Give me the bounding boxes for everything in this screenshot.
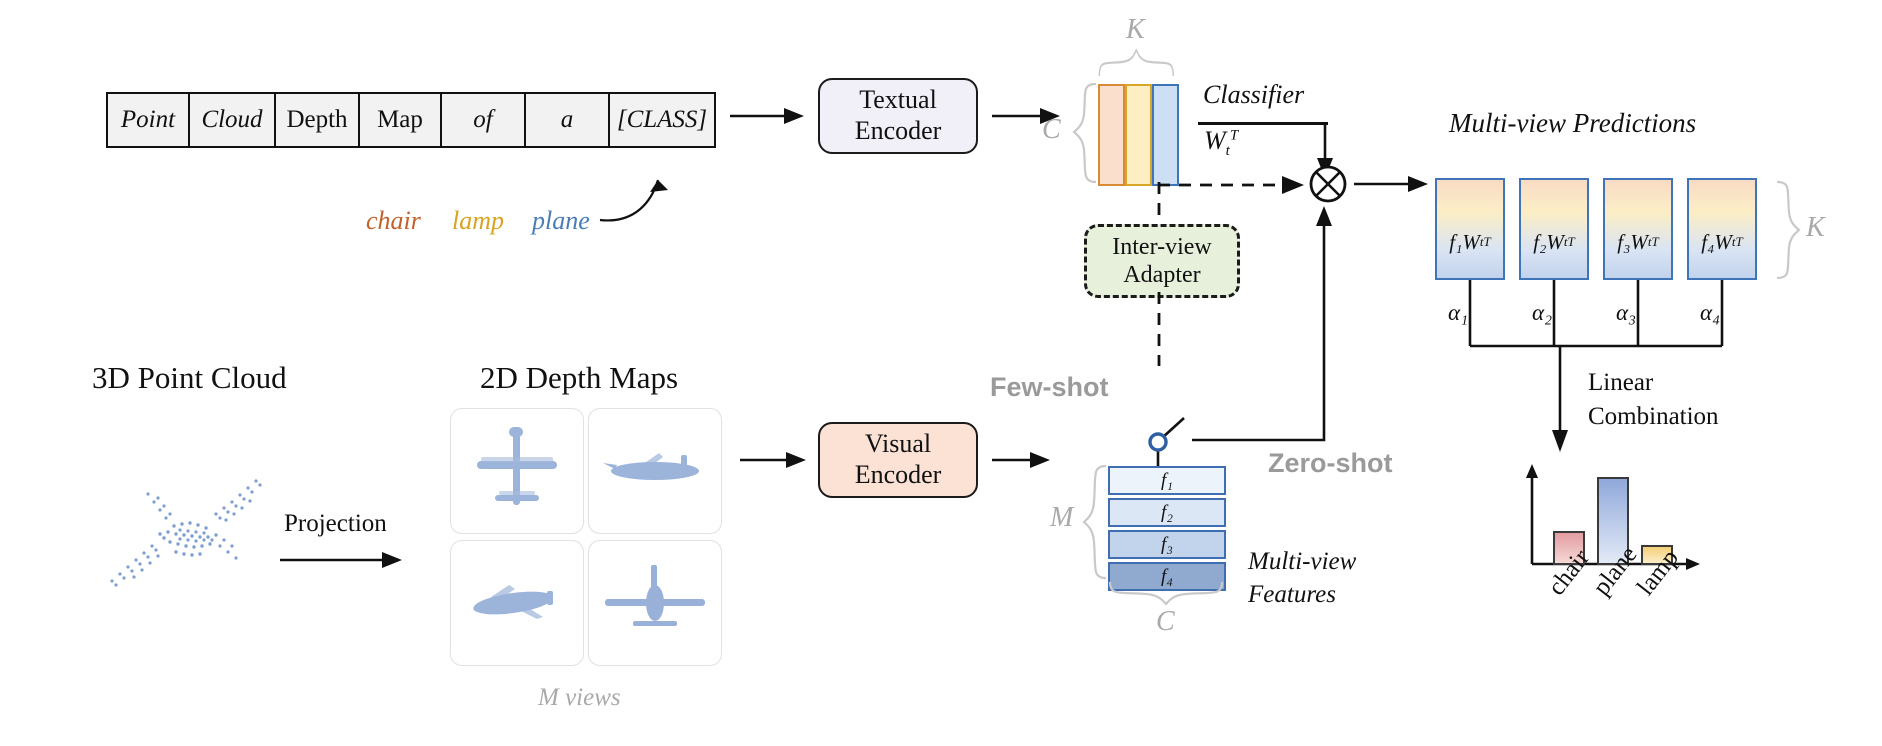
- prompt-token-5: a: [526, 94, 610, 146]
- prompt-token-row: Point Cloud Depth Map of a [CLASS]: [106, 92, 716, 148]
- visual-encoder-box: Visual Encoder: [818, 422, 978, 498]
- depth-map-tile-4: [588, 540, 722, 666]
- features-dim-c-label: C: [1156, 606, 1175, 638]
- classifier-dim-k-label: K: [1126, 14, 1145, 46]
- brace-c-features: [1108, 580, 1226, 604]
- visual-encoder-line2: Encoder: [855, 460, 942, 491]
- views-caption: M views: [538, 684, 621, 712]
- few-shot-label: Few-shot: [990, 372, 1109, 403]
- mode-switch-icon[interactable]: [1132, 398, 1192, 470]
- depth-map-tile-2: [588, 408, 722, 534]
- classifier-weight-label: WtT: [1204, 126, 1238, 160]
- brace-m-features: [1084, 464, 1108, 580]
- class-word-plane: plane: [532, 206, 590, 236]
- classifier-matrix: [1098, 84, 1179, 182]
- arrow-visual-encoder-to-features: [992, 448, 1062, 474]
- alpha-label-2: α₂: [1532, 300, 1552, 326]
- depth-maps-title: 2D Depth Maps: [480, 360, 678, 396]
- depth-map-tile-1: [450, 408, 584, 534]
- alpha-weight-tree: [1435, 280, 1765, 380]
- alpha-label-4: α₄: [1700, 300, 1720, 326]
- arrow-linear-combination: [1545, 346, 1575, 456]
- prompt-token-3: Map: [360, 94, 442, 146]
- prediction-box-4: f₄WtT: [1687, 178, 1757, 280]
- classifier-column-plane: [1152, 84, 1179, 186]
- classifier-label: Classifier: [1203, 80, 1304, 110]
- features-dim-m-label: M: [1050, 502, 1073, 534]
- adapter-dashed-descender: [1150, 292, 1170, 372]
- arrow-operator-to-predictions: [1354, 172, 1434, 198]
- class-word-lamp: lamp: [452, 206, 504, 236]
- brace-k-classifier: [1098, 48, 1176, 78]
- classifier-column-lamp: [1125, 84, 1152, 186]
- arrow-depthmaps-to-visual-encoder: [740, 448, 810, 474]
- textual-encoder-line1: Textual: [859, 85, 937, 116]
- depth-map-tile-3: [450, 540, 584, 666]
- brace-k-predictions: [1775, 180, 1799, 280]
- prediction-box-2: f₂WtT: [1519, 178, 1589, 280]
- visual-encoder-line1: Visual: [865, 429, 931, 460]
- point-cloud-title: 3D Point Cloud: [92, 360, 287, 396]
- class-word-chair: chair: [366, 206, 421, 236]
- feature-row-2: f₂: [1108, 498, 1226, 527]
- multi-view-predictions-row: f₁WtT f₂WtT f₃WtT f₄WtT: [1435, 178, 1757, 280]
- prompt-token-0: Point: [108, 94, 190, 146]
- textual-encoder-line2: Encoder: [855, 116, 942, 147]
- multi-view-features-stack: f₁ f₂ f₃ f₄: [1108, 466, 1226, 594]
- arrow-adapter-to-operator: [1158, 176, 1308, 196]
- arrow-projection: [280, 548, 410, 574]
- classifier-column-chair: [1098, 84, 1125, 186]
- alpha-label-1: α₁: [1448, 300, 1468, 326]
- feature-row-1: f₁: [1108, 466, 1226, 495]
- features-caption: Multi-view Features: [1248, 546, 1356, 611]
- prediction-box-1: f₁WtT: [1435, 178, 1505, 280]
- point-cloud-visual: [70, 440, 280, 610]
- alpha-label-3: α₃: [1616, 300, 1636, 326]
- projection-label: Projection: [284, 510, 387, 538]
- prediction-box-3: f₃WtT: [1603, 178, 1673, 280]
- arrow-prompt-to-textual-encoder: [730, 104, 806, 134]
- zero-shot-label: Zero-shot: [1268, 448, 1393, 479]
- prompt-token-class: [CLASS]: [610, 94, 714, 146]
- prompt-token-2: Depth: [276, 94, 360, 146]
- feature-row-3: f₃: [1108, 530, 1226, 559]
- arrow-zero-shot-to-operator: [1186, 200, 1346, 450]
- predictions-title: Multi-view Predictions: [1449, 108, 1696, 139]
- linear-combination-label: Linear Combination: [1588, 366, 1719, 434]
- class-insert-arrow-icon: [596, 150, 726, 230]
- textual-encoder-box: Textual Encoder: [818, 78, 978, 154]
- classifier-dim-c-label: C: [1042, 114, 1061, 146]
- prompt-token-1: Cloud: [190, 94, 276, 146]
- predictions-dim-k-label: K: [1806, 212, 1825, 244]
- prompt-token-4: of: [442, 94, 526, 146]
- brace-c-classifier: [1074, 82, 1098, 184]
